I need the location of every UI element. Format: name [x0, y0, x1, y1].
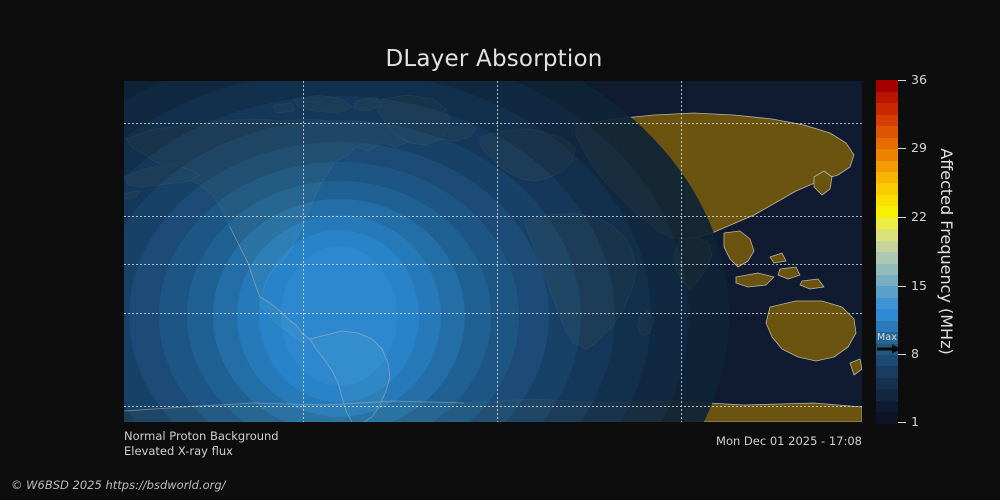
dlayer-absorption-page: DLayer Absorption — [0, 0, 1000, 500]
tick-value: 29 — [911, 140, 927, 155]
colorbar-band — [876, 297, 898, 309]
status-xray-flux: Elevated X-ray flux — [124, 444, 279, 459]
tick-value: 36 — [911, 72, 927, 87]
status-proton-background: Normal Proton Background — [124, 429, 279, 444]
colorbar-band — [876, 217, 898, 229]
tick-value: 15 — [911, 278, 927, 293]
colorbar-band — [876, 229, 898, 241]
colorbar-band — [876, 286, 898, 298]
colorbar-band — [876, 274, 898, 286]
colorbar-band — [876, 91, 898, 103]
tick-value: 22 — [911, 209, 927, 224]
colorbar-band — [876, 137, 898, 149]
colorbar-band — [876, 171, 898, 183]
colorbar-band — [876, 354, 898, 366]
colorbar-tick: 22 — [898, 209, 927, 224]
colorbar-band — [876, 332, 898, 344]
page-title: DLayer Absorption — [0, 46, 988, 72]
status-block: Normal Proton Background Elevated X-ray … — [124, 429, 279, 459]
colorbar-band — [876, 263, 898, 275]
colorbar-band — [876, 320, 898, 332]
timestamp: Mon Dec 01 2025 - 17:08 — [620, 434, 862, 448]
colorbar-band — [876, 377, 898, 389]
tick-mark-icon — [898, 217, 906, 218]
colorbar-band — [876, 400, 898, 412]
colorbar-tick: 36 — [898, 72, 927, 87]
colorbar-band — [876, 194, 898, 206]
tick-mark-icon — [898, 148, 906, 149]
colorbar-gradient — [876, 80, 898, 423]
tick-value: 8 — [911, 346, 919, 361]
tick-mark-icon — [898, 354, 906, 355]
colorbar-band — [876, 80, 898, 92]
colorbar-band — [876, 309, 898, 321]
colorbar-band — [876, 412, 898, 424]
colorbar-band — [876, 126, 898, 138]
colorbar-tick: 29 — [898, 140, 927, 155]
colorbar-band — [876, 206, 898, 218]
colorbar-band — [876, 240, 898, 252]
coastline-overlay — [124, 81, 862, 422]
tick-mark-icon — [898, 286, 906, 287]
colorbar-band — [876, 343, 898, 355]
colorbar-band — [876, 366, 898, 378]
colorbar-band — [876, 389, 898, 401]
tick-value: 1 — [911, 414, 919, 429]
tick-mark-icon — [898, 422, 906, 423]
colorbar-band — [876, 160, 898, 172]
colorbar-band — [876, 149, 898, 161]
colorbar-axis-label: Affected Frequency (MHz) — [935, 80, 957, 423]
colorbar-band — [876, 252, 898, 264]
colorbar-band — [876, 183, 898, 195]
colorbar-band — [876, 114, 898, 126]
colorbar-tick: 15 — [898, 278, 927, 293]
colorbar-tick: 8 — [898, 346, 919, 361]
tick-mark-icon — [898, 80, 906, 81]
colorbar-tick: 1 — [898, 414, 919, 429]
colorbar[interactable] — [876, 80, 898, 423]
copyright-footer: © W6BSD 2025 https://bsdworld.org/ — [11, 478, 226, 492]
world-map[interactable] — [124, 81, 862, 422]
colorbar-band — [876, 103, 898, 115]
